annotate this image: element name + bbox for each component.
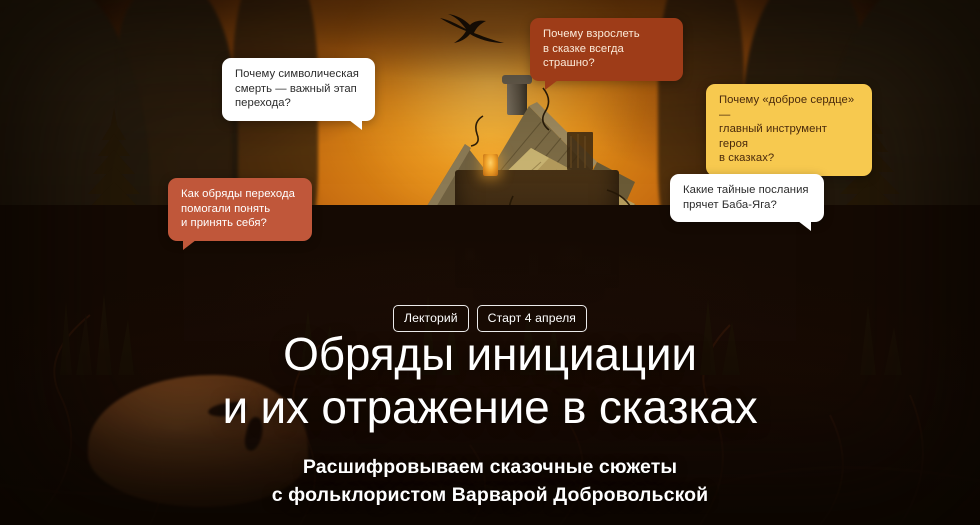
speech-bubble-symbolic-death[interactable]: Почему символическая смерть — важный эта… — [222, 58, 375, 121]
subtitle-line-2: с фольклористом Варварой Добровольской — [272, 484, 709, 506]
speech-bubble-rites-of-passage[interactable]: Как обряды перехода помогали понять и пр… — [168, 178, 312, 241]
title-block: Обряды инициации и их отражение в сказка… — [0, 328, 980, 509]
title-line-1: Обряды инициации — [283, 328, 697, 380]
page-title: Обряды инициации и их отражение в сказка… — [0, 328, 980, 434]
speech-bubble-baba-yaga[interactable]: Какие тайные послания прячет Баба-Яга? — [670, 174, 824, 222]
raven-icon — [436, 12, 508, 46]
page-subtitle: Расшифровываем сказочные сюжеты с фолькл… — [0, 453, 980, 509]
title-line-2: и их отражение в сказках — [222, 381, 757, 433]
subtitle-line-1: Расшифровываем сказочные сюжеты — [303, 456, 677, 478]
speech-bubble-growing-up[interactable]: Почему взрослеть в сказке всегда страшно… — [530, 18, 683, 81]
lecture-promo-poster: Почему символическая смерть — важный эта… — [0, 0, 980, 525]
speech-bubble-kind-heart[interactable]: Почему «доброе сердце» — главный инструм… — [706, 84, 872, 176]
